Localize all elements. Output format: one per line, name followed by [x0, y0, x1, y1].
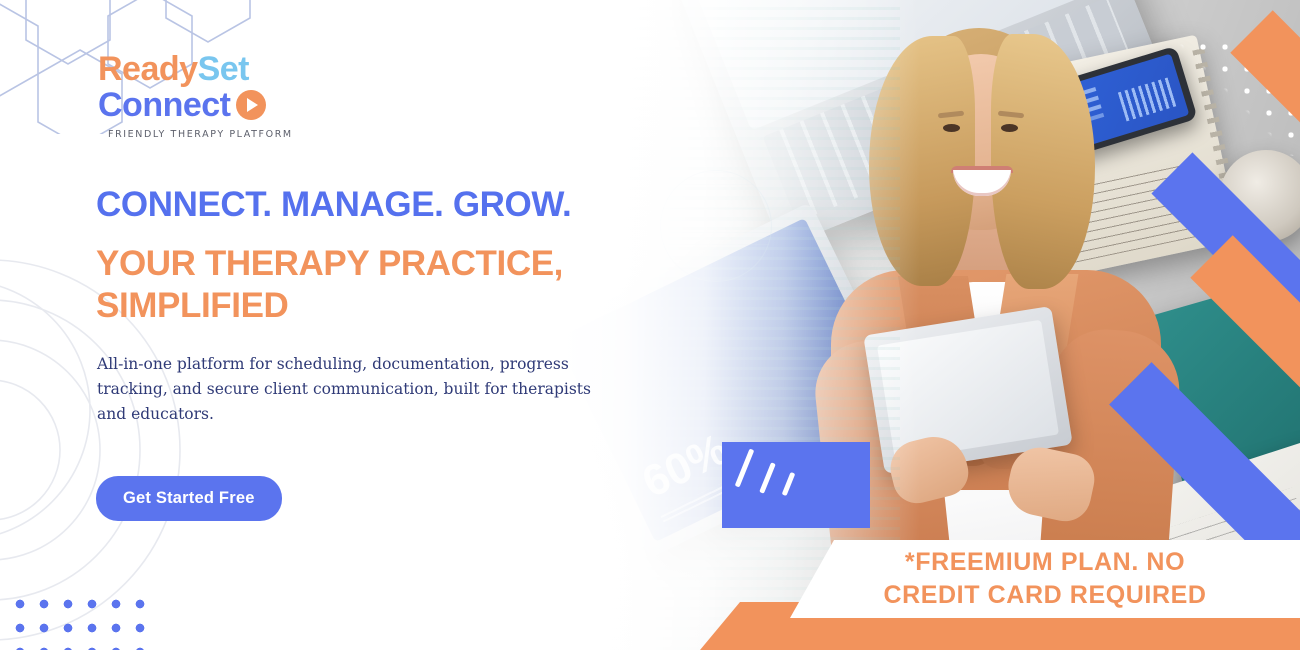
get-started-free-button[interactable]: Get Started Free	[96, 476, 282, 521]
logo-line-one: ReadySet	[98, 52, 358, 86]
eye-right	[1001, 124, 1018, 132]
hero-content: ReadySet Connect FRIENDLY THERAPY PLATFO…	[0, 0, 640, 650]
hero-subtext: All-in-one platform for scheduling, docu…	[97, 352, 597, 426]
logo-word-set: Set	[198, 50, 249, 88]
promo-line-1: *FREEMIUM PLAN. NO	[905, 548, 1185, 578]
logo-tagline: FRIENDLY THERAPY PLATFORM	[108, 129, 358, 140]
eye-left	[943, 124, 960, 132]
logo-line-two: Connect	[98, 88, 358, 122]
headline-primary: CONNECT. MANAGE. GROW.	[96, 186, 636, 225]
hero-banner: 60%	[0, 0, 1300, 650]
brand-logo[interactable]: ReadySet Connect FRIENDLY THERAPY PLATFO…	[98, 52, 358, 140]
hero-headline: CONNECT. MANAGE. GROW. YOUR THERAPY PRAC…	[96, 186, 636, 328]
promo-banner: *FREEMIUM PLAN. NO CREDIT CARD REQUIRED	[790, 540, 1300, 618]
play-icon	[236, 90, 266, 120]
promo-line-2: CREDIT CARD REQUIRED	[883, 581, 1206, 611]
hair-front-right	[991, 34, 1095, 289]
headline-secondary: YOUR THERAPY PRACTICE, SIMPLIFIED	[96, 243, 636, 328]
blue-accent-block	[722, 442, 870, 528]
logo-word-connect: Connect	[98, 88, 231, 122]
logo-word-ready: Ready	[98, 50, 198, 88]
